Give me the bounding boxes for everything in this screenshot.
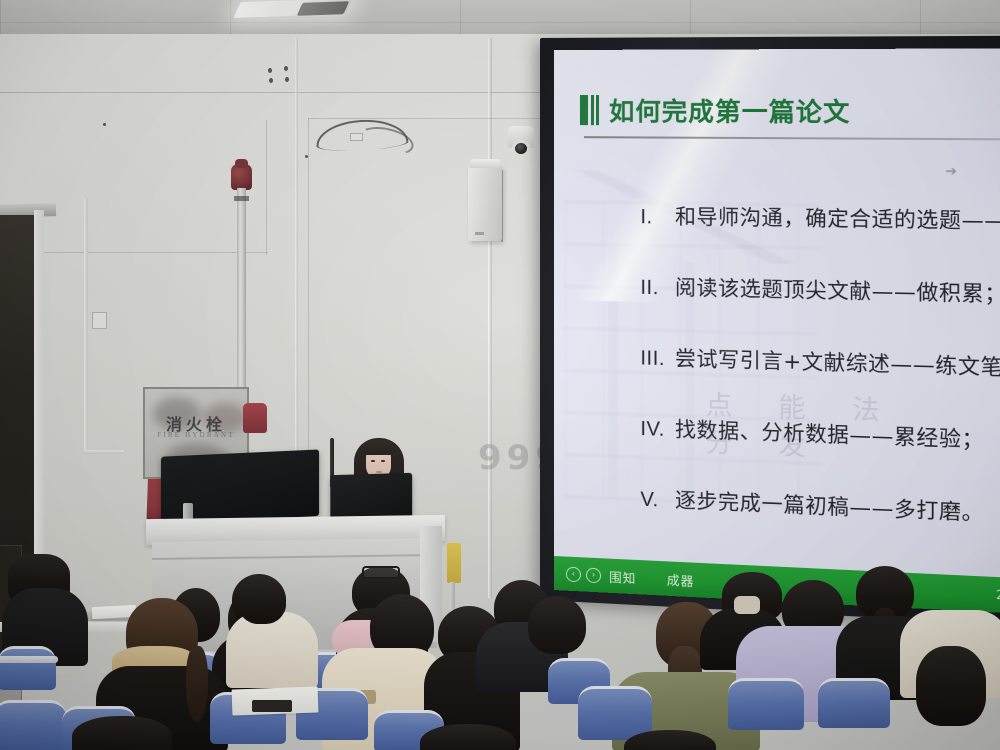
projection-screen[interactable]: 点 能 法 分 发 如何完成第一篇论文 ➔ I. 和导师沟通，确定合适的选题——… [540, 38, 1000, 608]
red-extinguisher [243, 403, 267, 433]
audience-body-4-cream-jacket [226, 612, 318, 688]
slide-bullet-4-text: 找数据、分析数据——累经验； [675, 412, 984, 453]
lectern-monitor-right[interactable] [330, 473, 412, 521]
title-accent-bars-icon [580, 95, 599, 125]
seat-10[interactable] [578, 686, 652, 740]
security-camera-icon [512, 140, 530, 157]
seat-1[interactable] [0, 646, 56, 690]
slide-body: I. 和导师沟通，确定合适的选题—— II. 阅读该选题顶尖文献——做积累； I… [640, 199, 1000, 572]
seat-arm-1 [0, 656, 58, 663]
seat-11[interactable] [728, 678, 804, 730]
cable-clip [350, 133, 363, 141]
slide-bullet-2: II. 阅读该选题顶尖文献——做积累； [640, 270, 1000, 309]
slide-bullet-2-number: II. [640, 277, 666, 301]
pipe-clamp [234, 196, 249, 201]
slide-bullet-4: IV. 找数据、分析数据——累经验； [640, 411, 1000, 456]
wall-panel-edge-b [266, 120, 267, 255]
fire-sprinkler-valve-icon [231, 164, 252, 190]
wall-mark-b [305, 155, 308, 158]
slide-bullet-3-text: 尝试写引言+文献综述——练文笔 [675, 341, 1000, 381]
wall-column-right [488, 38, 492, 598]
eyeglasses-icon [362, 566, 400, 579]
wall-conduit-horizontal [84, 450, 124, 454]
wall-screw-3 [269, 78, 273, 83]
seat-12[interactable] [818, 678, 890, 728]
audience-head-16 [72, 716, 172, 750]
wall-screw-2 [284, 66, 288, 71]
slide-bullet-2-text: 阅读该选题顶尖文献——做积累； [675, 270, 1000, 307]
notebook-shadow [252, 700, 292, 712]
presenter-eye-right [381, 460, 385, 462]
mouse-cursor-icon: ➔ [945, 163, 957, 180]
seat-6[interactable] [0, 700, 66, 750]
face-mask-icon [734, 596, 760, 614]
audience [0, 560, 1000, 750]
wall-screw-1 [268, 68, 272, 73]
slide-bullet-1: I. 和导师沟通，确定合适的选题—— [640, 199, 1000, 235]
slide-bullet-1-number: I. [640, 206, 666, 230]
audience-head-15 [916, 646, 986, 726]
wall-screw-4 [285, 77, 289, 82]
slide-watermark-pillar-1 [608, 247, 618, 499]
slide-bullet-3-number: III. [640, 347, 666, 371]
slide-bullet-5-number: V. [640, 488, 666, 512]
wall-seam-upper [0, 92, 548, 93]
audience-head-4b [238, 576, 286, 624]
fire-hydrant-sublabel: FIRE HYDRANT [145, 431, 247, 439]
light-fixture-shadow [297, 1, 350, 16]
slide-bullet-5: V. 逐步完成一篇初稿——多打磨。 [640, 481, 1000, 529]
presenter-eye-left [371, 460, 375, 462]
audience-head-17 [420, 724, 516, 750]
audience-ponytail-1 [186, 646, 208, 722]
wall-conduit [84, 198, 88, 453]
speaker-badge [475, 232, 484, 235]
slide-title-divider [584, 136, 1000, 140]
slide-bullet-3: III. 尝试写引言+文献综述——练文笔 [640, 340, 1000, 382]
slide-title: 如何完成第一篇论文 [609, 92, 850, 129]
slide-title-row: 如何完成第一篇论文 [580, 92, 850, 129]
presenter-fringe [363, 440, 394, 455]
beverage-can [183, 503, 193, 520]
slide-bullet-1-text: 和导师沟通，确定合适的选题—— [675, 199, 1000, 234]
light-switch[interactable] [92, 312, 107, 329]
lecture-hall-photo: 9996 消火栓 FIRE HYDRANT 点 能 法 分 发 [0, 0, 1000, 750]
wall-speaker-icon [468, 165, 502, 241]
wall-panel-edge-d [308, 118, 540, 119]
wall-mark-a [103, 123, 106, 126]
slide-bullet-4-number: IV. [640, 418, 666, 442]
slide-surface[interactable]: 点 能 法 分 发 如何完成第一篇论文 ➔ I. 和导师沟通，确定合适的选题——… [554, 48, 1000, 614]
slide-bullet-5-text: 逐步完成一篇初稿——多打磨。 [675, 483, 984, 527]
audience-head-10 [528, 596, 586, 654]
